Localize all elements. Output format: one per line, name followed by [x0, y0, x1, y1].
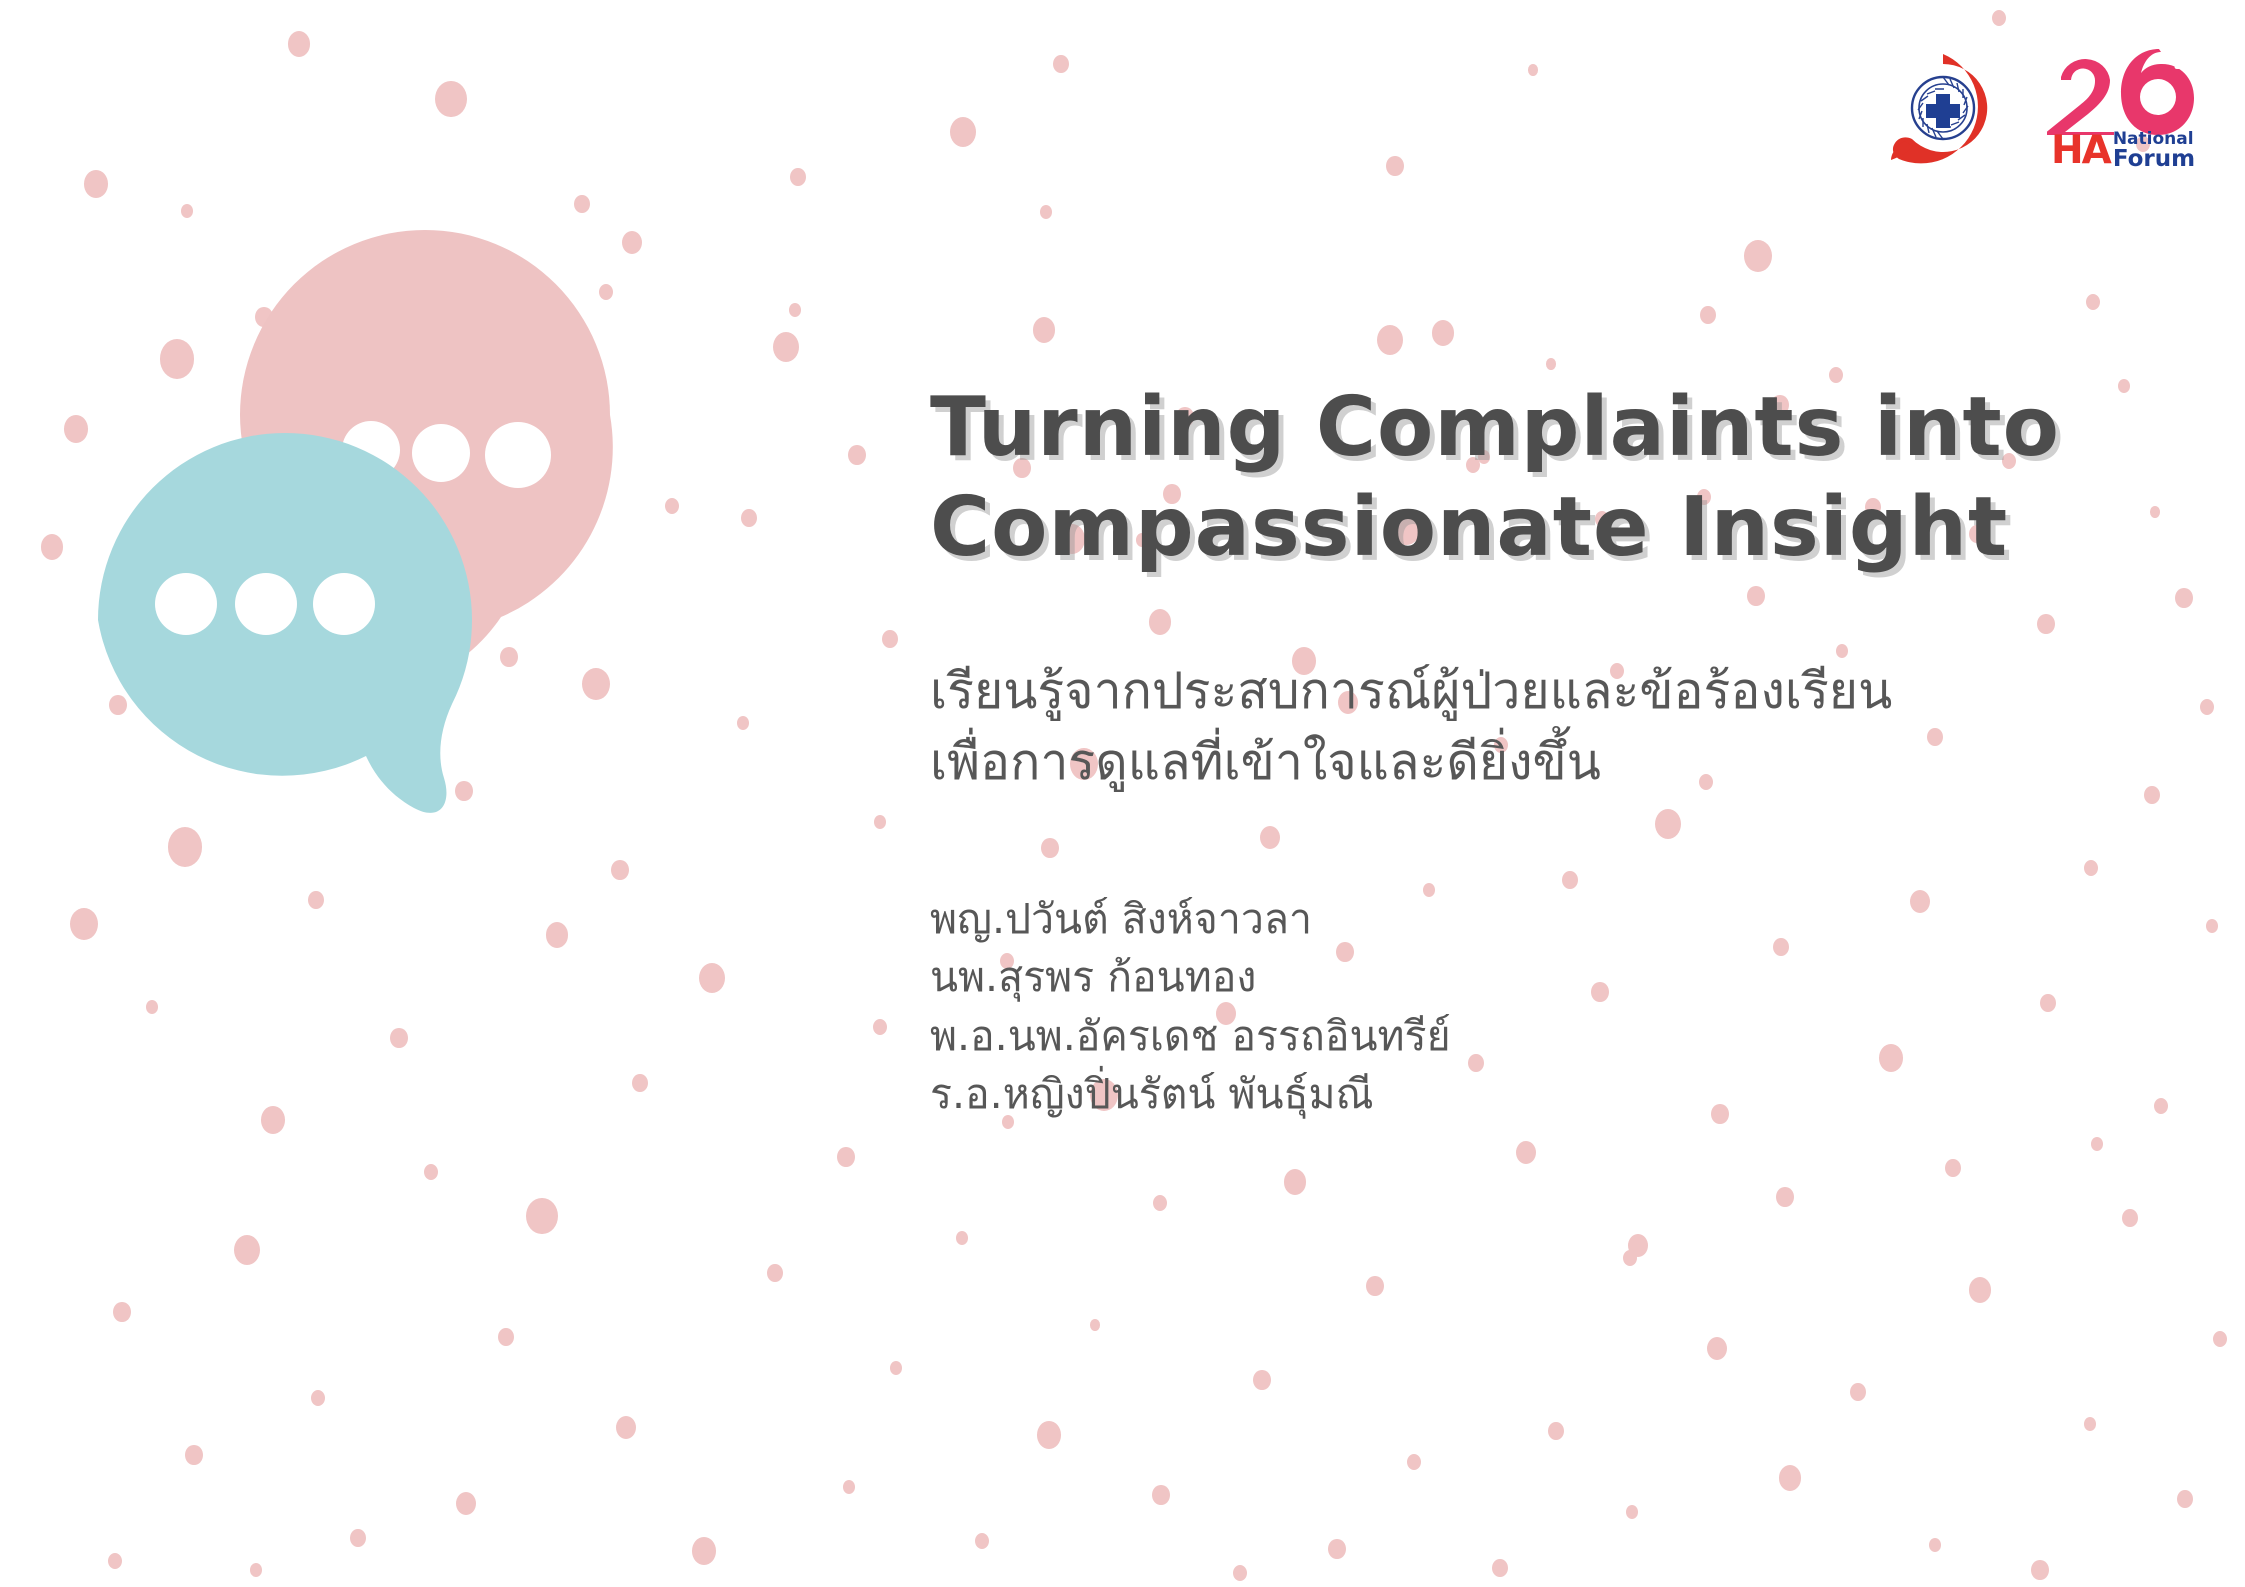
confetti-dot	[113, 1302, 131, 1323]
forum-forum-text: Forum	[2113, 148, 2195, 171]
svg-text:th: th	[2173, 55, 2191, 73]
speech-bubbles-illustration	[0, 0, 760, 1160]
author-name: ร.อ.หญิงปิ่นรัตน์ พันธุ์มณี	[930, 1065, 2160, 1123]
confetti-dot	[843, 1480, 855, 1494]
confetti-dot	[1623, 1250, 1637, 1266]
confetti-dot	[848, 445, 866, 466]
confetti-dot	[350, 1529, 366, 1547]
confetti-dot	[1992, 10, 2006, 26]
forum-ha-text: HA	[2051, 131, 2110, 170]
confetti-dot	[1516, 1141, 1536, 1164]
confetti-dot	[2206, 919, 2218, 933]
confetti-dot	[1040, 205, 1052, 219]
title-slide: th HA National Forum Turning Complaints …	[0, 0, 2245, 1587]
confetti-dot	[250, 1563, 262, 1577]
confetti-dot	[1945, 1159, 1961, 1177]
confetti-dot	[767, 1264, 783, 1282]
confetti-dot	[1744, 240, 1772, 272]
ha-national-forum-26th-logo: th HA National Forum	[2047, 47, 2197, 171]
confetti-dot	[837, 1147, 855, 1168]
confetti-dot	[2091, 1137, 2103, 1151]
confetti-dot	[2122, 1209, 2138, 1227]
forum-national-text: National	[2113, 131, 2195, 148]
confetti-dot	[2086, 294, 2100, 310]
confetti-dot	[2175, 588, 2193, 609]
slide-subtitle: เรียนรู้จากประสบการณ์ผู้ป่วยและข้อร้องเร…	[930, 656, 2160, 798]
confetti-dot	[498, 1328, 514, 1346]
confetti-dot	[1626, 1505, 1638, 1519]
confetti-dot	[956, 1231, 968, 1245]
confetti-dot	[1090, 1319, 1100, 1331]
ha-thailand-accreditation-logo	[1866, 46, 2021, 171]
confetti-dot	[616, 1416, 636, 1439]
confetti-dot	[1628, 1234, 1648, 1257]
confetti-dot	[1407, 1454, 1421, 1470]
slide-title: Turning Complaints into Compassionate In…	[930, 378, 2160, 578]
confetti-dot	[1432, 320, 1454, 345]
confetti-dot	[2031, 1560, 2049, 1581]
confetti-dot	[1284, 1169, 1306, 1194]
confetti-dot	[1328, 1539, 1346, 1560]
author-list: พญ.ปวันต์ สิงห์จาวลา นพ.สุรพร ก้อนทอง พ.…	[930, 890, 2160, 1123]
confetti-dot	[789, 303, 801, 317]
confetti-dot	[1037, 1421, 1061, 1449]
confetti-dot	[1152, 1485, 1170, 1506]
confetti-dot	[692, 1537, 716, 1565]
confetti-dot	[2084, 1417, 2096, 1431]
confetti-dot	[890, 1361, 902, 1375]
confetti-dot	[1153, 1195, 1167, 1211]
confetti-dot	[882, 630, 898, 648]
confetti-dot	[185, 1445, 203, 1466]
author-name: นพ.สุรพร ก้อนทอง	[930, 948, 2160, 1006]
confetti-dot	[424, 1164, 438, 1180]
confetti-dot	[456, 1492, 476, 1515]
author-name: พ.อ.นพ.อัครเดช อรรถอินทรีย์	[930, 1007, 2160, 1065]
logo-bar: th HA National Forum	[1866, 46, 2197, 171]
confetti-dot	[1969, 1277, 1991, 1302]
confetti-dot	[1929, 1538, 1941, 1552]
confetti-dot	[1377, 325, 1403, 355]
confetti-dot	[1233, 1565, 1247, 1581]
confetti-dot	[1386, 156, 1404, 177]
confetti-dot	[1492, 1559, 1508, 1577]
confetti-dot	[1779, 1465, 1801, 1490]
confetti-dot	[1546, 358, 1556, 370]
confetti-dot	[2213, 1331, 2227, 1347]
confetti-dot	[1033, 317, 1055, 342]
confetti-dot	[1707, 1337, 1727, 1360]
confetti-dot	[108, 1553, 122, 1569]
confetti-dot	[874, 815, 886, 829]
speech-bubble-teal-shape	[98, 433, 472, 813]
confetti-dot	[1700, 306, 1716, 324]
confetti-dot	[873, 1019, 887, 1035]
slide-content: Turning Complaints into Compassionate In…	[930, 378, 2160, 1123]
confetti-dot	[526, 1198, 558, 1235]
confetti-dot	[950, 117, 976, 147]
confetti-dot	[311, 1390, 325, 1406]
confetti-dot	[790, 168, 806, 186]
confetti-dot	[1776, 1187, 1794, 1208]
confetti-dot	[1253, 1370, 1271, 1391]
forum-number-26: th	[2047, 47, 2197, 135]
confetti-dot	[1366, 1276, 1384, 1297]
confetti-dot	[1850, 1383, 1866, 1401]
confetti-dot	[975, 1533, 989, 1549]
confetti-dot	[1528, 64, 1538, 76]
confetti-dot	[2177, 1490, 2193, 1508]
confetti-dot	[234, 1235, 260, 1265]
confetti-dot	[1053, 55, 1069, 73]
confetti-dot	[1548, 1422, 1564, 1440]
confetti-dot	[2200, 699, 2214, 715]
author-name: พญ.ปวันต์ สิงห์จาวลา	[930, 890, 2160, 948]
confetti-dot	[773, 332, 799, 362]
